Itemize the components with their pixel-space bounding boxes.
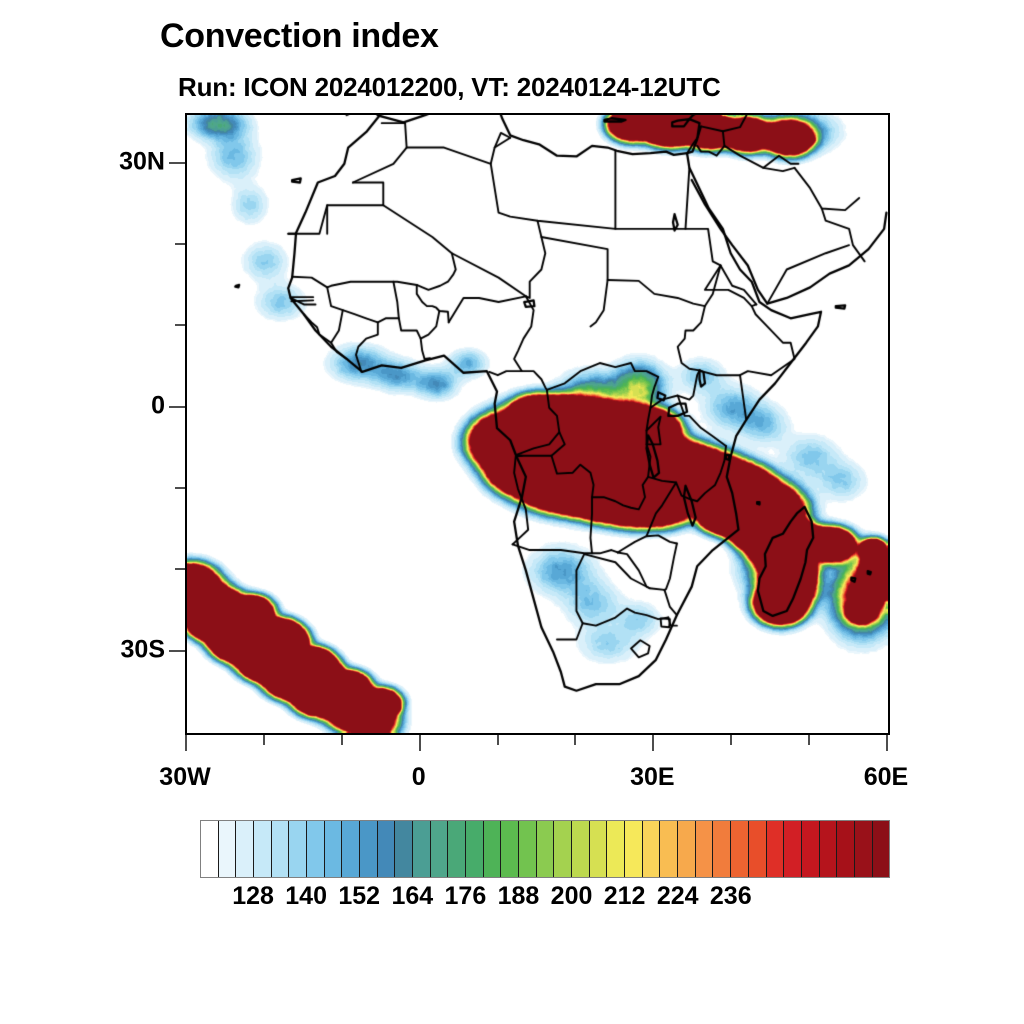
colorbar-cell: [484, 821, 502, 877]
colorbar-cell: [660, 821, 678, 877]
colorbar-cell: [236, 821, 254, 877]
x-tick-minor: [808, 735, 810, 745]
y-tick-minor: [175, 324, 185, 326]
colorbar-cell: [731, 821, 749, 877]
colorbar-cell: [360, 821, 378, 877]
chart-subtitle: Run: ICON 2024012200, VT: 20240124-12UTC: [178, 72, 721, 103]
colorbar-cell: [395, 821, 413, 877]
x-tick-minor: [341, 735, 343, 745]
colorbar-cell: [254, 821, 272, 877]
x-tick-minor: [497, 735, 499, 745]
x-tick-major: [185, 735, 187, 751]
colorbar-cell: [713, 821, 731, 877]
colorbar-cell: [802, 821, 820, 877]
colorbar-cell: [607, 821, 625, 877]
y-tick-minor: [175, 487, 185, 489]
colorbar-cell: [431, 821, 449, 877]
colorbar-tick-labels: 128140152164176188200212224236: [200, 882, 890, 918]
colorbar-cell: [696, 821, 714, 877]
y-tick-minor: [175, 243, 185, 245]
x-axis-label: 0: [349, 763, 489, 792]
colorbar-cell: [413, 821, 431, 877]
colorbar-cell: [325, 821, 343, 877]
colorbar-cell: [342, 821, 360, 877]
colorbar-cell: [855, 821, 873, 877]
colorbar-cell: [519, 821, 537, 877]
colorbar-cell: [643, 821, 661, 877]
colorbar-cell: [572, 821, 590, 877]
y-axis-label: 30S: [35, 635, 165, 664]
y-tick-minor: [175, 568, 185, 570]
colorbar-cell: [784, 821, 802, 877]
y-axis-label: 0: [35, 391, 165, 420]
colorbar-cell: [554, 821, 572, 877]
x-tick-major: [652, 735, 654, 751]
colorbar: 128140152164176188200212224236: [200, 820, 890, 878]
colorbar-cell: [625, 821, 643, 877]
colorbar-cell: [219, 821, 237, 877]
colorbar-cell: [749, 821, 767, 877]
colorbar-cell: [873, 821, 890, 877]
y-axis-label: 30N: [35, 147, 165, 176]
x-axis-label: 30W: [115, 763, 255, 792]
colorbar-cell: [590, 821, 608, 877]
x-tick-minor: [574, 735, 576, 745]
page-title: Convection index: [160, 17, 439, 56]
colorbar-cell: [837, 821, 855, 877]
colorbar-cell: [289, 821, 307, 877]
colorbar-cell: [448, 821, 466, 877]
x-axis-label: 60E: [816, 763, 956, 792]
colorbar-tick-label: 236: [686, 882, 776, 911]
x-tick-minor: [730, 735, 732, 745]
colorbar-cell: [272, 821, 290, 877]
colorbar-cell: [501, 821, 519, 877]
y-tick-major: [169, 406, 185, 408]
colorbar-cell: [678, 821, 696, 877]
colorbar-cell: [307, 821, 325, 877]
x-tick-major: [419, 735, 421, 751]
y-tick-major: [169, 162, 185, 164]
y-tick-major: [169, 650, 185, 652]
colorbar-gradient: [200, 820, 890, 878]
convection-index-heatmap: [187, 115, 888, 733]
x-axis-label: 30E: [582, 763, 722, 792]
colorbar-cell: [820, 821, 838, 877]
colorbar-cell: [378, 821, 396, 877]
colorbar-cell: [201, 821, 219, 877]
colorbar-cell: [767, 821, 785, 877]
x-tick-major: [886, 735, 888, 751]
x-tick-minor: [263, 735, 265, 745]
map-plot-area: [185, 113, 890, 735]
colorbar-cell: [466, 821, 484, 877]
colorbar-cell: [537, 821, 555, 877]
